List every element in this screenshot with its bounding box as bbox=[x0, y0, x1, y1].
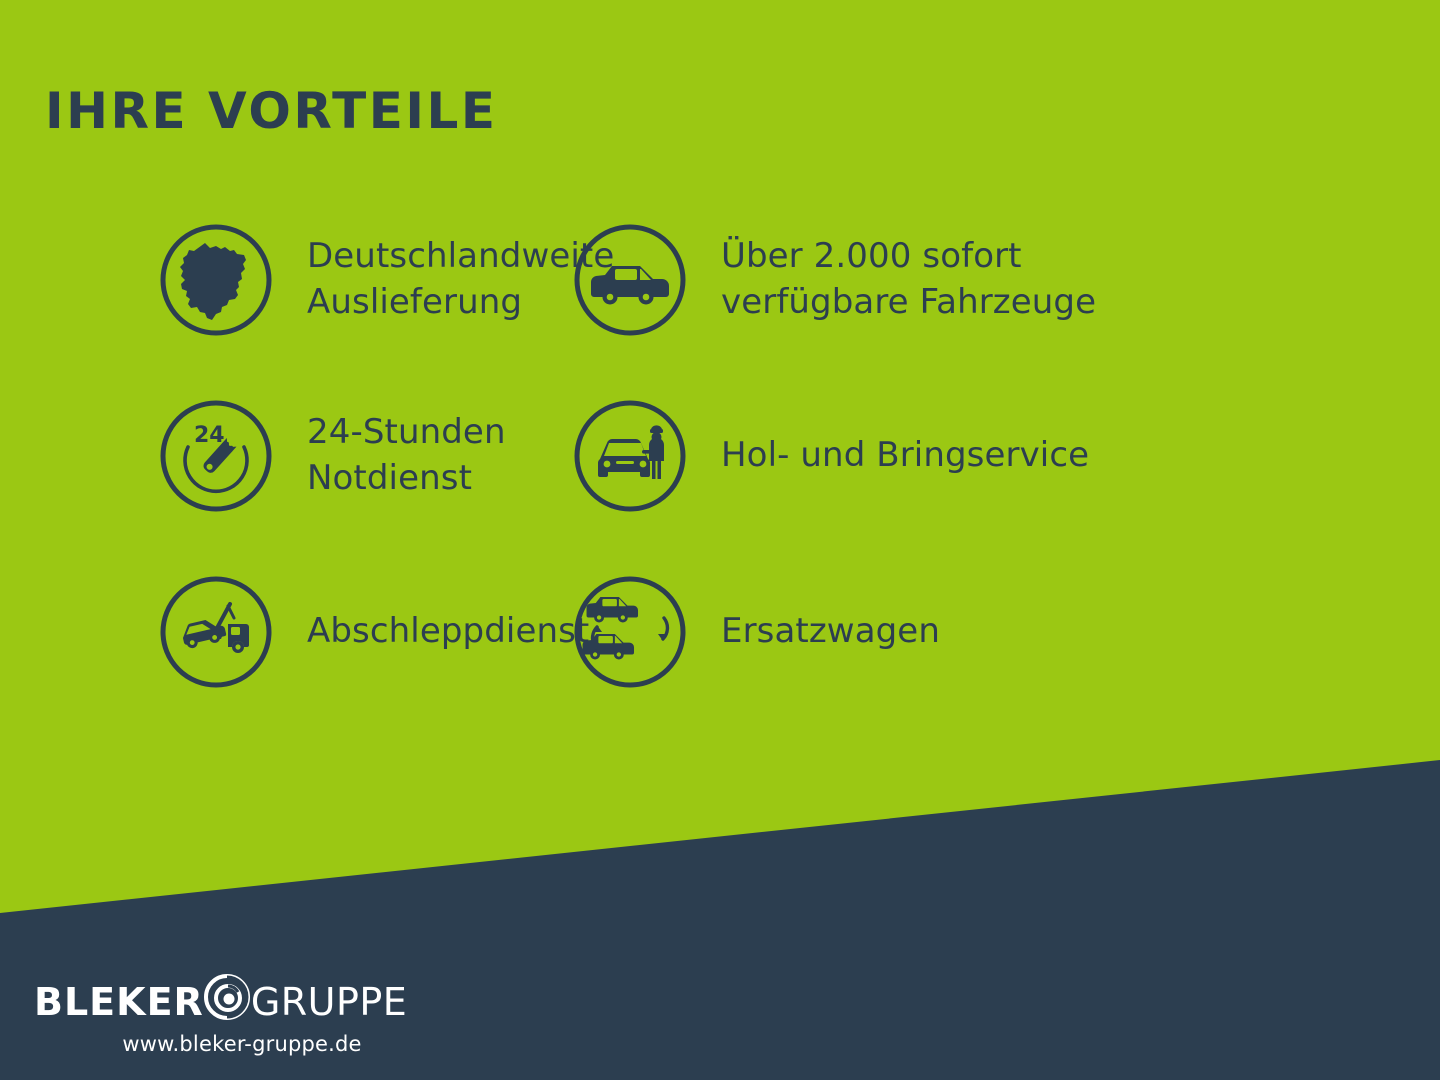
clock-24-wrench-icon: 24 bbox=[158, 398, 274, 514]
benefit-item-verfuegbare-fahrzeuge: Über 2.000 sofort verfügbare Fahrzeuge bbox=[565, 222, 1265, 338]
benefit-label: Über 2.000 sofort verfügbare Fahrzeuge bbox=[721, 234, 1096, 326]
benefits-row: Abschleppdienst bbox=[0, 574, 1440, 750]
logo-wordmark-row: BLEKER GRUPPE bbox=[34, 978, 414, 1026]
page-title: IHRE VORTEILE bbox=[45, 86, 497, 136]
benefit-item-deutschlandweite-auslieferung: Deutschlandweite Auslieferung bbox=[0, 222, 565, 338]
benefits-row: Deutschlandweite Auslieferung Übe bbox=[0, 222, 1440, 398]
germany-map-icon bbox=[158, 222, 274, 338]
car-icon bbox=[572, 222, 688, 338]
logo-word-gruppe: GRUPPE bbox=[251, 983, 408, 1021]
benefit-label: Hol- und Bringservice bbox=[721, 433, 1089, 479]
benefits-grid: Deutschlandweite Auslieferung Übe bbox=[0, 222, 1440, 750]
spiral-rings-icon bbox=[199, 969, 255, 1025]
icon-text-24: 24 bbox=[194, 423, 225, 448]
slide-root: IHRE VORTEILE Deutschlandweite Ausliefer… bbox=[0, 0, 1440, 1080]
benefit-item-hol-und-bringservice: Hol- und Bringservice bbox=[565, 398, 1265, 514]
benefit-item-abschleppdienst: Abschleppdienst bbox=[0, 574, 565, 690]
benefits-row: 24 24-Stunden Notdienst bbox=[0, 398, 1440, 574]
benefit-label: 24-Stunden Notdienst bbox=[307, 410, 506, 502]
logo-word-bleker: BLEKER bbox=[34, 983, 204, 1021]
logo-website-url: www.bleker-gruppe.de bbox=[34, 1032, 414, 1056]
tow-truck-icon bbox=[158, 574, 274, 690]
car-with-driver-icon bbox=[572, 398, 688, 514]
car-exchange-icon bbox=[572, 574, 688, 690]
benefit-label: Abschleppdienst bbox=[307, 609, 589, 655]
benefit-label: Ersatzwagen bbox=[721, 609, 940, 655]
brand-logo: BLEKER GRUPPE www.bleker-gruppe.de bbox=[34, 978, 414, 1056]
benefit-item-ersatzwagen: Ersatzwagen bbox=[565, 574, 1265, 690]
benefit-item-24-stunden-notdienst: 24 24-Stunden Notdienst bbox=[0, 398, 565, 514]
